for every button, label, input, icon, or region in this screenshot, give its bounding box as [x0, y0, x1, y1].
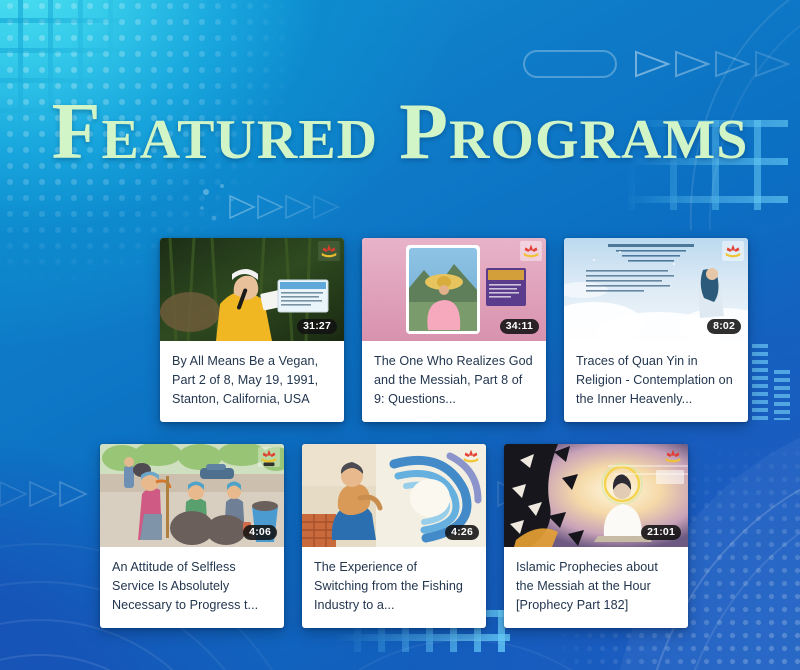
duration-badge: 34:11: [500, 319, 539, 335]
page-title: Featured Programs: [0, 92, 800, 172]
play-triangle-icon: [0, 482, 26, 506]
play-triangle-icon: [636, 52, 668, 76]
program-title[interactable]: Traces of Quan Yin in Religion - Contemp…: [564, 341, 748, 422]
play-triangles-bottom-left: [0, 478, 94, 510]
featured-programs-banner: Featured Programs: [0, 0, 800, 670]
pill-outline-icon: [524, 51, 616, 77]
lotus-logo-icon: [722, 241, 744, 261]
program-title[interactable]: The One Who Realizes God and the Messiah…: [362, 341, 546, 422]
play-triangle-icon: [258, 196, 282, 218]
lotus-logo-icon: [520, 241, 542, 261]
program-card-row-2: 4:06 An Attitude of Selfless Service Is …: [100, 444, 688, 628]
play-triangle-icon: [716, 52, 748, 76]
duration-badge: 4:26: [445, 525, 479, 541]
program-thumbnail[interactable]: 21:01: [504, 444, 688, 547]
program-card[interactable]: 8:02 Traces of Quan Yin in Religion - Co…: [564, 238, 748, 422]
program-thumbnail[interactable]: 31:27: [160, 238, 344, 341]
program-thumbnail[interactable]: 34:11: [362, 238, 546, 341]
lotus-logo-icon: [318, 241, 340, 261]
play-triangle-icon: [756, 52, 788, 76]
play-triangles-mid-left: [228, 192, 340, 222]
duration-badge: 8:02: [707, 319, 741, 335]
play-triangle-icon: [314, 196, 338, 218]
program-card[interactable]: 34:11 The One Who Realizes God and the M…: [362, 238, 546, 422]
program-thumbnail[interactable]: 4:06: [100, 444, 284, 547]
bubble-dots: [198, 182, 258, 232]
lotus-logo-icon: [460, 447, 482, 467]
lotus-logo-icon: [258, 447, 280, 467]
duration-badge: 21:01: [641, 525, 681, 541]
program-card[interactable]: 4:26 The Experience of Switching from th…: [302, 444, 486, 628]
program-card[interactable]: 4:06 An Attitude of Selfless Service Is …: [100, 444, 284, 628]
program-title[interactable]: The Experience of Switching from the Fis…: [302, 547, 486, 628]
program-card[interactable]: 21:01 Islamic Prophecies about the Messi…: [504, 444, 688, 628]
program-title[interactable]: An Attitude of Selfless Service Is Absol…: [100, 547, 284, 628]
program-thumbnail[interactable]: 8:02: [564, 238, 748, 341]
play-triangle-icon: [676, 52, 708, 76]
program-thumbnail[interactable]: 4:26: [302, 444, 486, 547]
program-title[interactable]: Islamic Prophecies about the Messiah at …: [504, 547, 688, 628]
lotus-logo-icon: [662, 447, 684, 467]
play-triangle-icon: [286, 196, 310, 218]
program-card-row-1: 31:27 By All Means Be a Vegan, Part 2 of…: [160, 238, 748, 422]
play-triangle-icon: [30, 482, 56, 506]
duration-badge: 31:27: [297, 319, 337, 335]
program-card[interactable]: 31:27 By All Means Be a Vegan, Part 2 of…: [160, 238, 344, 422]
pill-and-play-triangles-top-right: [522, 42, 790, 86]
program-title[interactable]: By All Means Be a Vegan, Part 2 of 8, Ma…: [160, 341, 344, 422]
play-triangle-icon: [230, 196, 254, 218]
duration-badge: 4:06: [243, 525, 277, 541]
play-triangle-icon: [60, 482, 86, 506]
